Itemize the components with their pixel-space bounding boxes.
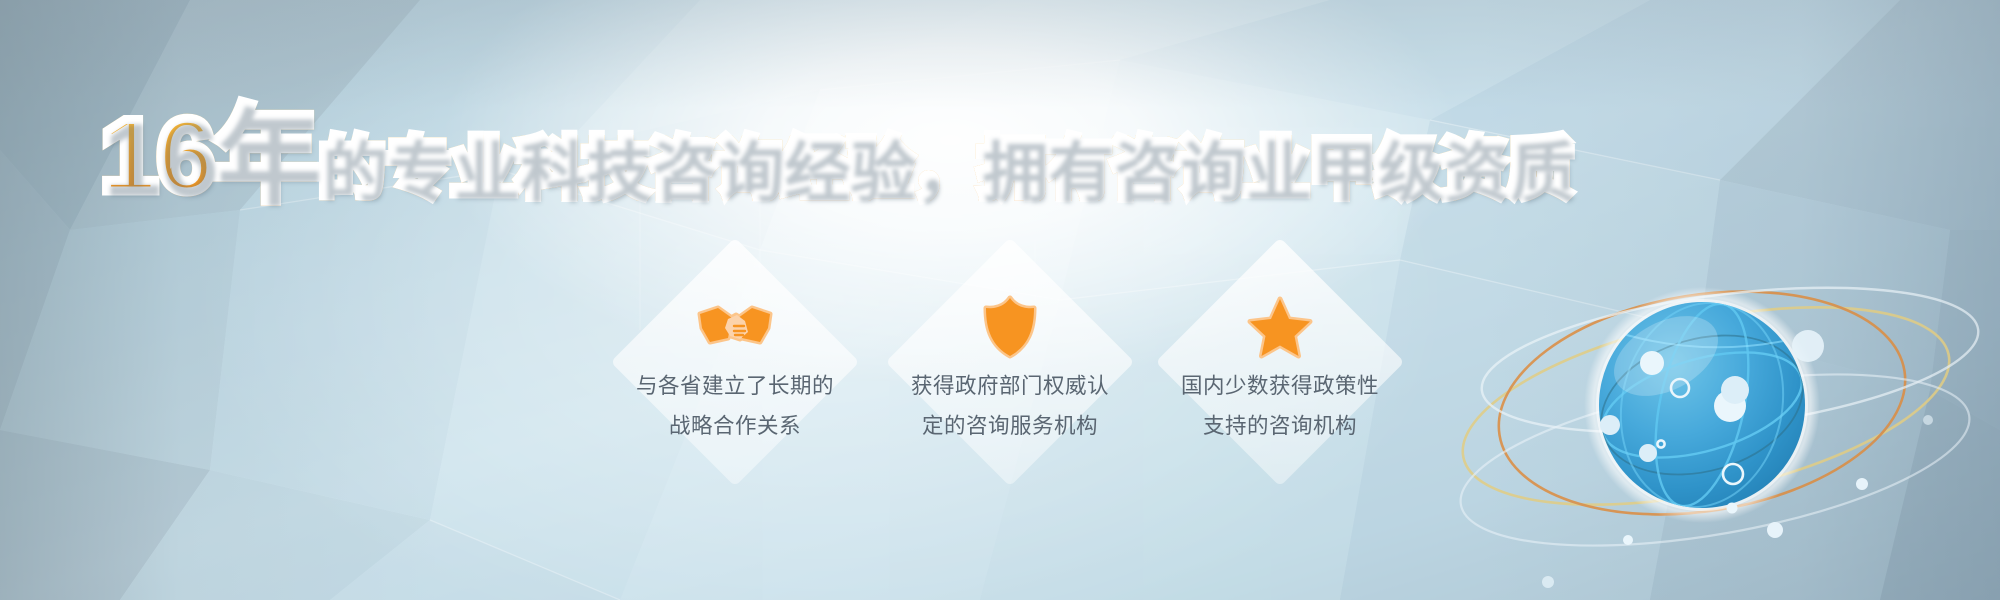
feature-text-line1: 国内少数获得政策性 — [1181, 366, 1379, 406]
feature-text: 国内少数获得政策性 支持的咨询机构 — [1181, 366, 1379, 446]
feature-text: 获得政府部门权威认 定的咨询服务机构 — [911, 366, 1109, 446]
feature-card-partnership[interactable]: 与各省建立了长期的 战略合作关系 — [595, 222, 875, 502]
feature-text-line2: 定的咨询服务机构 — [911, 406, 1109, 446]
handshake-icon — [699, 296, 771, 358]
globe-orbit-graphic — [1430, 210, 1990, 600]
feature-text-line2: 支持的咨询机构 — [1181, 406, 1379, 446]
feature-card-policy-support[interactable]: 国内少数获得政策性 支持的咨询机构 — [1140, 222, 1420, 502]
feature-card-government-certified[interactable]: 获得政府部门权威认 定的咨询服务机构 — [870, 222, 1150, 502]
feature-text-line1: 与各省建立了长期的 — [636, 366, 834, 406]
feature-text-line1: 获得政府部门权威认 — [911, 366, 1109, 406]
star-icon — [1244, 296, 1316, 358]
shield-icon — [974, 296, 1046, 358]
feature-text: 与各省建立了长期的 战略合作关系 — [636, 366, 834, 446]
promo-banner: 16年 的专业科技咨询经验，拥有咨询业甲级资质 — [0, 0, 2000, 600]
feature-text-line2: 战略合作关系 — [636, 406, 834, 446]
